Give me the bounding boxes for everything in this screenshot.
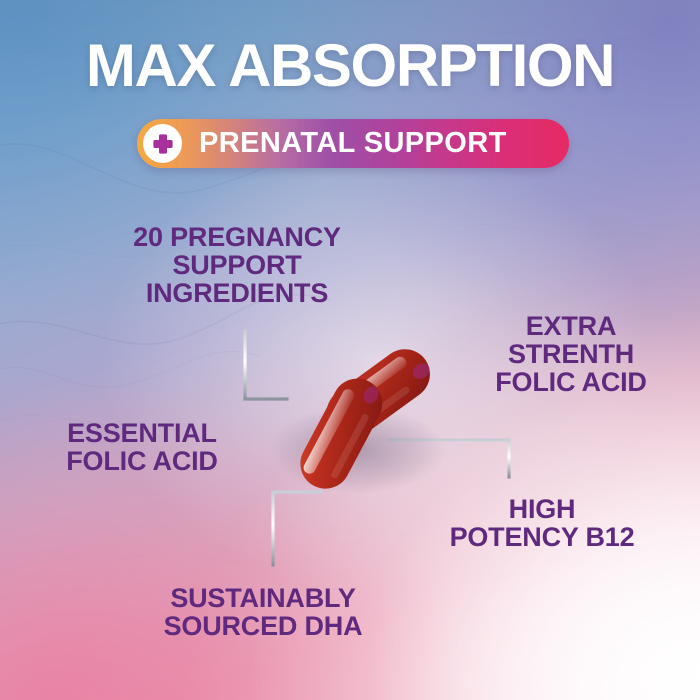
badge-label: PRENATAL SUPPORT	[199, 129, 507, 158]
page-title: MAX ABSORPTION	[0, 36, 700, 96]
capsule-product-image	[248, 330, 468, 510]
product-infographic: MAX ABSORPTION PRENATAL SUPPORT	[0, 0, 700, 700]
prenatal-support-badge: PRENATAL SUPPORT	[137, 119, 569, 168]
callout-label-ingredients: 20 PREGNANCY SUPPORT INGREDIENTS	[92, 224, 382, 307]
callout-label-extra-strength: EXTRA STRENTH FOLIC ACID	[452, 313, 690, 396]
callout-label-sustainably-sourced-dha: SUSTAINABLY SOURCED DHA	[118, 585, 408, 641]
callout-label-essential-folic-acid: ESSENTIAL FOLIC ACID	[26, 420, 258, 476]
plus-icon	[143, 124, 182, 163]
callout-label-high-potency-b12: HIGH POTENCY B12	[418, 496, 666, 552]
